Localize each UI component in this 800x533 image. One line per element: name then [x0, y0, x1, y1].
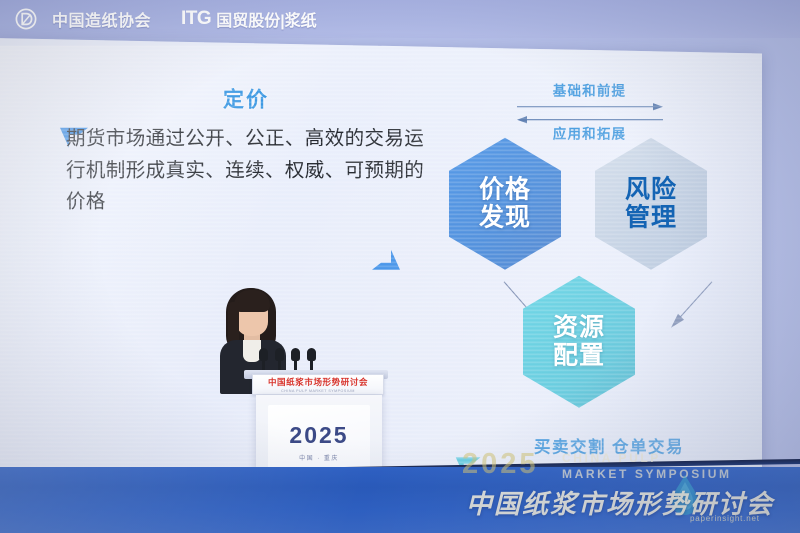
top-banner: 中国造纸协会 ITG 国贸股份|浆纸: [0, 0, 800, 38]
slide-body-text: 期货市场通过公开、公正、高效的交易运行机制形成真实、连续、权威、可预期的价格: [66, 124, 426, 219]
podium-year: 2025: [289, 422, 348, 449]
stage-floor: [0, 467, 800, 533]
floor-sheen: [0, 467, 800, 533]
hex-line-1: 价格: [479, 176, 531, 204]
hexagon-diagram: 价格 发现: [444, 132, 762, 452]
podium-sign-en: CHINA PULP MARKET SYMPOSIUM: [281, 389, 355, 393]
hexagon-price-discovery: 价格 发现: [446, 136, 564, 272]
podium-city: 中国 · 重庆: [299, 453, 339, 462]
hexagon-risk-management: 风险 管理: [592, 136, 710, 272]
hex-line-2: 配置: [553, 342, 605, 370]
left-text-block: 定价 期货市场通过公开、公正、高效的交易运行机制形成真实、连续、权威、可预期的价…: [66, 84, 426, 219]
hex-line-1: 风险: [625, 176, 677, 204]
sponsor-logo: ITG 国贸股份|浆纸: [181, 7, 317, 31]
podium-sign-cn: 中国纸浆市场形势研讨会: [268, 376, 368, 388]
hex-line-2: 发现: [479, 204, 531, 232]
hexagon-caption: 买卖交割 仓单交易: [444, 434, 762, 458]
arrow-label-top: 基础和前提: [502, 84, 677, 101]
hex-line-2: 管理: [625, 204, 677, 232]
conference-photo: 中国造纸协会 ITG 国贸股份|浆纸 定价 期货市场通过公开、公正、高效的交易运…: [0, 0, 800, 533]
sponsor-name: 国贸股份|浆纸: [216, 7, 316, 31]
hexagon-label: 风险 管理: [625, 176, 677, 232]
arrow-right-icon: [502, 101, 677, 114]
itg-mark: ITG: [181, 8, 211, 30]
podium-sign: 中国纸浆市场形势研讨会 CHINA PULP MARKET SYMPOSIUM: [252, 374, 384, 395]
slide-heading: 定价: [66, 84, 426, 114]
corner-bracket-bottom-right: [368, 246, 402, 274]
hexagon-label: 资源 配置: [553, 314, 605, 370]
association-name: 中国造纸协会: [52, 7, 151, 31]
cpa-leaf-logo-icon: [14, 7, 38, 31]
speaker-hair-front: [234, 290, 270, 312]
arrow-left-icon: [502, 114, 677, 127]
hexagon-resource-allocation: 资源 配置: [520, 274, 638, 410]
hexagon-label: 价格 发现: [479, 176, 531, 232]
hex-line-1: 资源: [553, 314, 605, 342]
